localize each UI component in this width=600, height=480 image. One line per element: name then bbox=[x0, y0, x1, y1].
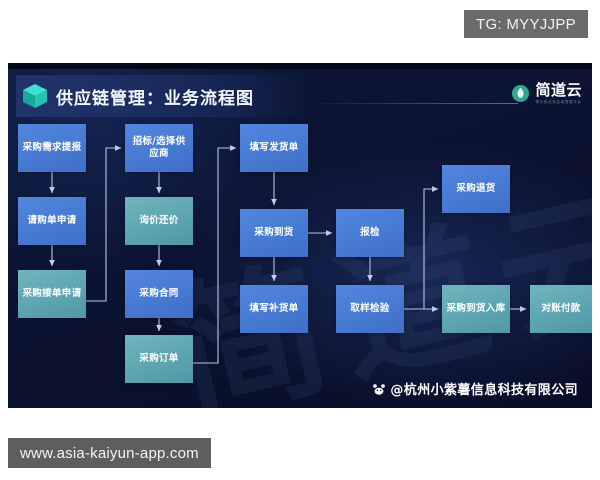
flowchart: 采购需求提报请购单申请采购接单申请招标/选择供应商询价还价采购合同采购订单填写发… bbox=[8, 63, 592, 408]
url-watermark-text: www.asia-kaiyun-app.com bbox=[20, 445, 199, 462]
flow-node-n2[interactable]: 请购单申请 bbox=[18, 197, 86, 245]
telegram-watermark-tag: TG: MYYJJPP bbox=[464, 10, 588, 38]
screenshot-root: TG: MYYJJPP 简道云 供应链管理：业务流程图 简道云 零 bbox=[0, 0, 600, 480]
flow-edge-n3-n4 bbox=[86, 148, 121, 301]
flow-edge-n12-n13 bbox=[404, 189, 438, 309]
flowchart-slide: 简道云 供应链管理：业务流程图 简道云 零代码业务应用搭建平台 bbox=[8, 63, 592, 408]
flow-node-n8[interactable]: 填写发货单 bbox=[240, 124, 308, 172]
url-watermark-tag: www.asia-kaiyun-app.com bbox=[8, 438, 211, 468]
flow-edge-n7-n8 bbox=[193, 148, 236, 363]
flow-node-n14[interactable]: 采购到货入库 bbox=[442, 285, 510, 333]
flow-node-n15[interactable]: 对账付款 bbox=[530, 285, 592, 333]
flow-node-n11[interactable]: 报检 bbox=[336, 209, 404, 257]
footer-credit: @杭州小紫薯信息科技有限公司 bbox=[372, 379, 578, 398]
flow-node-n1[interactable]: 采购需求提报 bbox=[18, 124, 86, 172]
telegram-watermark-text: TG: MYYJJPP bbox=[476, 16, 576, 33]
flow-node-n10[interactable]: 填写补货单 bbox=[240, 285, 308, 333]
flow-node-n4[interactable]: 招标/选择供应商 bbox=[125, 124, 193, 172]
paw-icon bbox=[372, 382, 386, 396]
flow-node-n5[interactable]: 询价还价 bbox=[125, 197, 193, 245]
flow-node-n9[interactable]: 采购到货 bbox=[240, 209, 308, 257]
flow-node-n12[interactable]: 取样检验 bbox=[336, 285, 404, 333]
footer-credit-text: @杭州小紫薯信息科技有限公司 bbox=[390, 379, 578, 398]
flow-node-n13[interactable]: 采购退货 bbox=[442, 165, 510, 213]
flow-node-n3[interactable]: 采购接单申请 bbox=[18, 270, 86, 318]
flow-node-n7[interactable]: 采购订单 bbox=[125, 335, 193, 383]
flow-node-n6[interactable]: 采购合同 bbox=[125, 270, 193, 318]
